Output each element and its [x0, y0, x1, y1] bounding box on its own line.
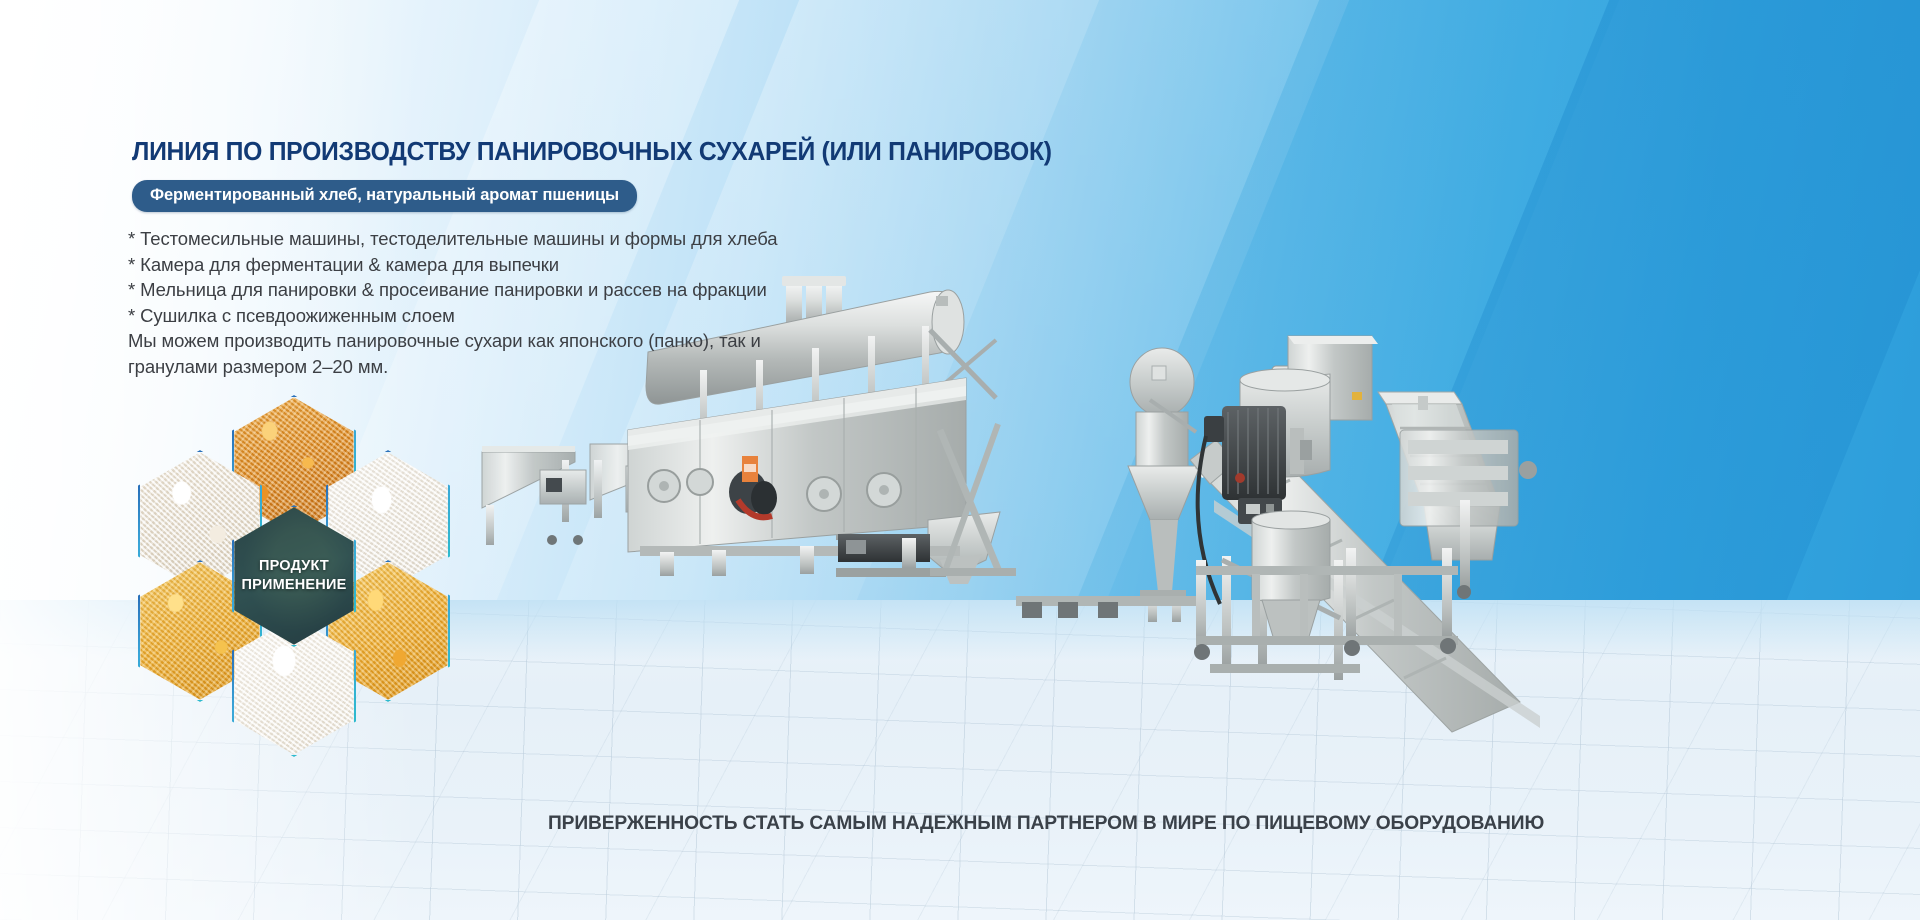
footer-tagline: ПРИВЕРЖЕННОСТЬ СТАТЬ САМЫМ НАДЕЖНЫМ ПАРТ… — [548, 812, 1544, 835]
product-hex-cluster: ПРОДУКТ ПРИМЕНЕНИЕ — [124, 395, 464, 695]
banner-canvas: ЛИНИЯ ПО ПРОИЗВОДСТВУ ПАНИРОВОЧНЫХ СУХАР… — [0, 0, 1920, 920]
page-title: ЛИНИЯ ПО ПРОИЗВОДСТВУ ПАНИРОВОЧНЫХ СУХАР… — [132, 138, 1001, 167]
hex-center-label-line1: ПРОДУКТ — [259, 558, 329, 574]
hex-center-label: ПРОДУКТ ПРИМЕНЕНИЕ — [242, 557, 347, 595]
hex-center-label-line2: ПРИМЕНЕНИЕ — [242, 577, 347, 593]
list-item: * Тестомесильные машины, тестоделительны… — [128, 226, 1028, 252]
tagline-badge: Ферментированный хлеб, натуральный арома… — [132, 180, 637, 212]
headline-block: ЛИНИЯ ПО ПРОИЗВОДСТВУ ПАНИРОВОЧНЫХ СУХАР… — [128, 138, 1028, 379]
feature-list: * Тестомесильные машины, тестоделительны… — [128, 226, 1028, 328]
list-item: * Мельница для панировки & просеивание п… — [128, 277, 1028, 303]
description-paragraph: Мы можем производить панировочные сухари… — [128, 328, 768, 379]
list-item: * Сушилка с псевдоожиженным слоем — [128, 303, 1028, 329]
list-item: * Камера для ферментации & камера для вы… — [128, 252, 1028, 278]
